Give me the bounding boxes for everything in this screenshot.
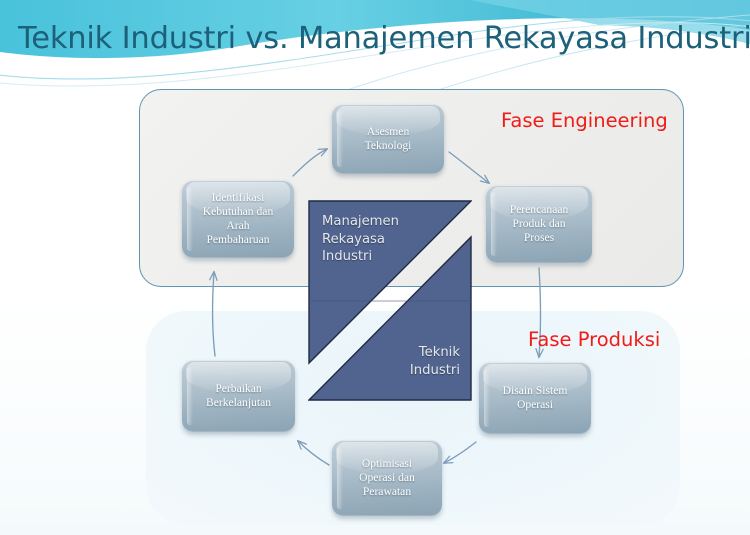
phase-label-produksi: Fase Produksi — [528, 328, 660, 351]
process-node-identifikasi[interactable]: Identifikasi Kebutuhan dan Arah Pembahar… — [182, 180, 294, 258]
core-diagram: Manajemen Rekayasa Industri Teknik Indus… — [308, 200, 472, 401]
process-node-asesmen[interactable]: Asesmen Teknologi — [332, 104, 444, 174]
process-node-perencanaan-label: Perencanaan Produk dan Proses — [505, 203, 574, 246]
process-node-disain-label: Disain Sistem Operasi — [498, 384, 573, 412]
phase-label-engineering: Fase Engineering — [501, 109, 668, 132]
process-node-identifikasi-label: Identifikasi Kebutuhan dan Arah Pembahar… — [198, 191, 279, 248]
process-node-disain[interactable]: Disain Sistem Operasi — [479, 362, 591, 434]
page-title: Teknik Industri vs. Manajemen Rekayasa I… — [18, 21, 748, 56]
process-node-perbaikan[interactable]: Perbaikan Berkelanjutan — [182, 360, 295, 432]
process-node-perencanaan[interactable]: Perencanaan Produk dan Proses — [486, 185, 592, 263]
process-node-optimisasi-label: Optimisasi Operasi dan Perawatan — [354, 457, 420, 500]
process-node-optimisasi[interactable]: Optimisasi Operasi dan Perawatan — [332, 440, 442, 516]
core-label-manajemen: Manajemen Rekayasa Industri — [322, 213, 399, 266]
slide-canvas: Teknik Industri vs. Manajemen Rekayasa I… — [0, 0, 750, 535]
process-node-perbaikan-label: Perbaikan Berkelanjutan — [201, 382, 276, 410]
core-label-teknik: Teknik Industri — [410, 344, 460, 379]
process-node-asesmen-label: Asesmen Teknologi — [360, 125, 417, 153]
